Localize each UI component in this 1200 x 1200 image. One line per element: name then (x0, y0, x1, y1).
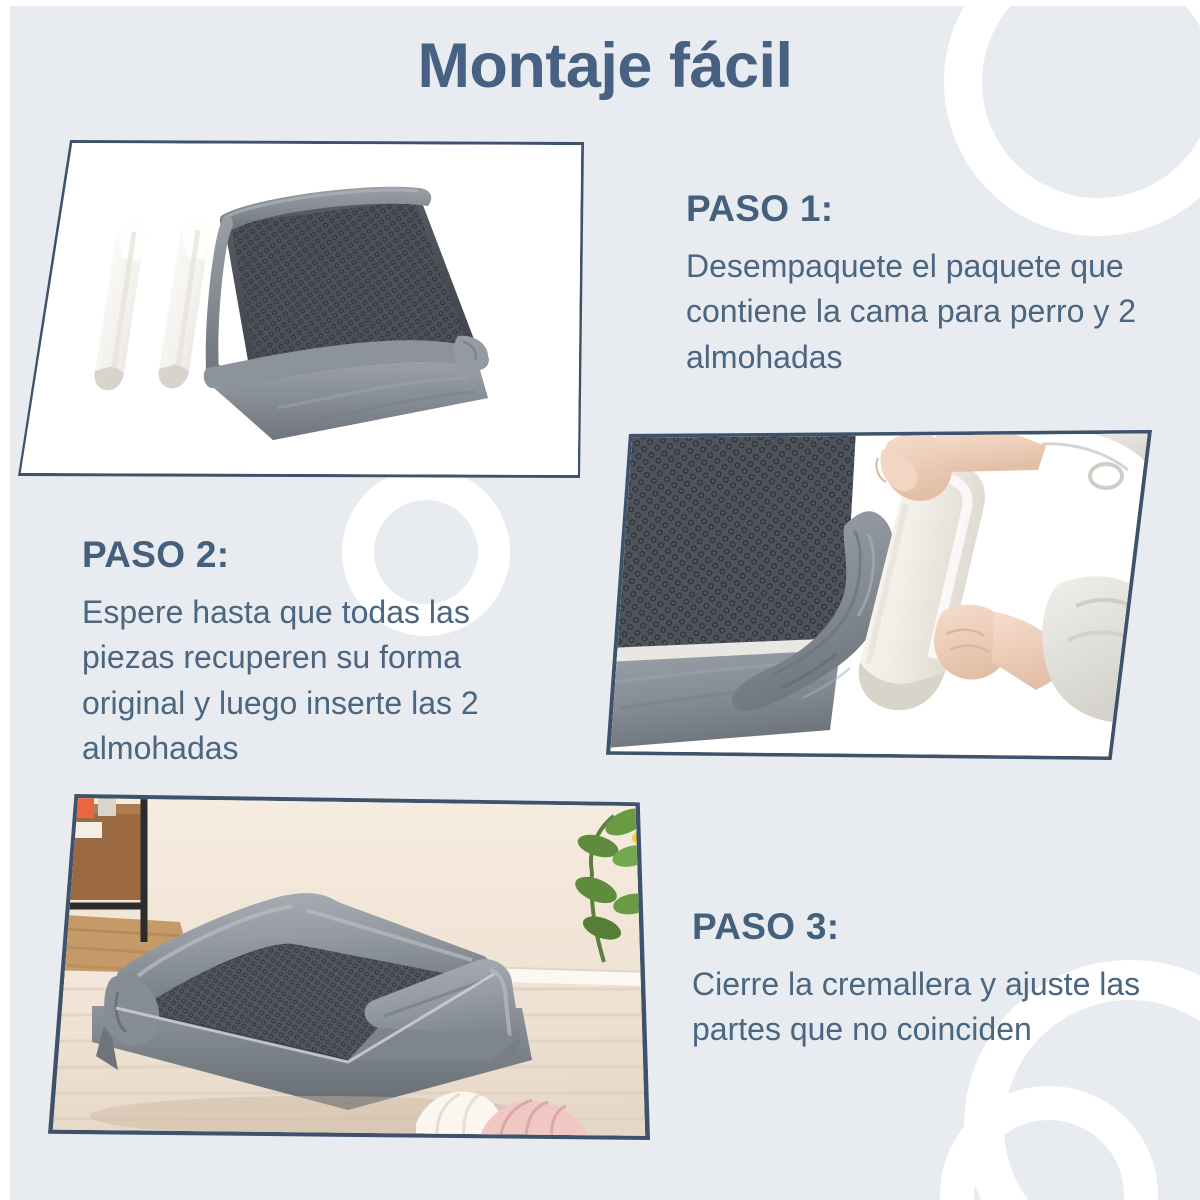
step-3-body: Cierre la cremallera y ajuste las partes… (692, 962, 1172, 1053)
step-1-body: Desempaquete el paquete que contiene la … (686, 244, 1156, 380)
step-2-heading: PASO 2: (82, 534, 552, 576)
waffle-mattress (606, 430, 856, 748)
photo-3 (48, 794, 650, 1140)
dog-bed-unpacked-illustration (18, 140, 584, 478)
photo-card-step-3 (48, 794, 650, 1140)
photo-card-step-1 (18, 140, 584, 478)
photo-1 (18, 140, 584, 478)
photo-2 (606, 430, 1152, 760)
step-block-3: PASO 3: Cierre la cremallera y ajuste la… (692, 906, 1172, 1053)
step-block-1: PASO 1: Desempaquete el paquete que cont… (686, 188, 1156, 380)
inserting-foam-pillow-illustration (606, 430, 1152, 760)
assembled-dog-bed-room-illustration (48, 794, 650, 1140)
photo-card-step-2 (606, 430, 1152, 760)
infographic-canvas: Montaje fácil (0, 0, 1200, 1200)
step-3-heading: PASO 3: (692, 906, 1172, 948)
step-block-2: PASO 2: Espere hasta que todas las pieza… (82, 534, 552, 772)
step-2-body: Espere hasta que todas las piezas recupe… (82, 590, 552, 772)
step-1-heading: PASO 1: (686, 188, 1156, 230)
decorative-ring-bottom-right-secondary (940, 1086, 1158, 1200)
page-title: Montaje fácil (10, 30, 1200, 102)
